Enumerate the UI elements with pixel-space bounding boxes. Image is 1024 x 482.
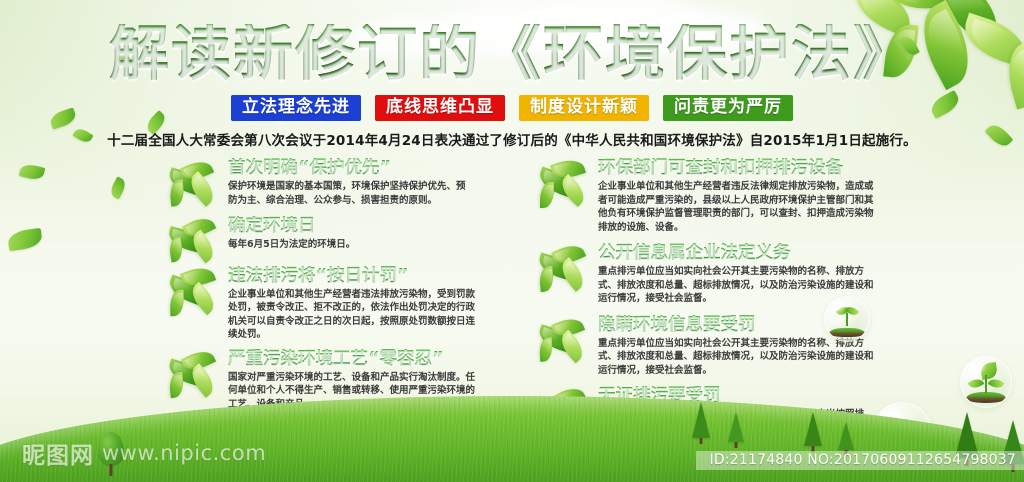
leaf-sprig-icon	[164, 160, 226, 206]
item-body: 每年6月5日为法定的环境日。	[228, 238, 471, 251]
badge-row: 立法理念先进 底线思维凸显 制度设计新颖 问责更为严厉	[0, 95, 1024, 121]
title-wrap: 解读新修订的《环境保护法》	[0, 24, 1024, 84]
poster-title: 解读新修订的《环境保护法》	[109, 24, 915, 84]
list-item: 环保部门可查封和扣押排污设备 企业事业单位和其他生产经营者违反法律规定排放污染物…	[536, 158, 902, 234]
badge-accountability[interactable]: 问责更为严厉	[663, 95, 793, 121]
leaf-sprig-icon	[164, 351, 226, 397]
floating-leaf	[7, 228, 43, 252]
item-body: 保护环境是国家的基本国策，环境保护坚持保护优先、预防为主、综合治理、公众参与、损…	[228, 180, 471, 207]
list-item: 确定环境日 每年6月5日为法定的环境日。	[166, 216, 532, 252]
floating-leaf	[108, 176, 128, 199]
badge-legislation-concept[interactable]: 立法理念先进	[231, 95, 361, 121]
item-heading: 环保部门可查封和扣押排污设备	[598, 158, 902, 178]
item-body: 企业事业单位和其他生产经营者违反法律规定排放污染物，造成或者可能造成严重污染的，…	[598, 180, 881, 234]
item-heading: 违法排污将“按日计罚”	[228, 266, 532, 286]
list-item: 首次明确“保护优先” 保护环境是国家的基本国策，环境保护坚持保护优先、预防为主、…	[166, 158, 532, 207]
leaf-sprig-icon	[534, 160, 596, 206]
leaf-sprig-icon	[164, 268, 226, 314]
leaf-sprig-icon	[534, 245, 596, 291]
item-body: 重点排污单位应当如实向社会公开其主要污染物的名称、排放方式、排放浓度和总量、超标…	[598, 337, 881, 377]
item-heading: 确定环境日	[228, 216, 532, 236]
list-item: 违法排污将“按日计罚” 企业事业单位和其他生产经营者违法排放污染物，受到罚款处罚…	[166, 266, 532, 342]
glass-bubble-sprout-icon	[824, 296, 870, 342]
item-body: 企业事业单位和其他生产经营者违法排放污染物，受到罚款处罚，被责令改正、拒不改正的…	[228, 288, 476, 342]
item-heading: 首次明确“保护优先”	[228, 158, 532, 178]
leaf-sprig-icon	[534, 317, 596, 363]
badge-bottom-line-thinking[interactable]: 底线思维凸显	[375, 95, 505, 121]
badge-system-design[interactable]: 制度设计新颖	[519, 95, 649, 121]
poster-subtitle: 十二届全国人大常委会第八次会议于2014年4月24日表决通过了修订后的《中华人民…	[0, 129, 1024, 149]
glass-bubble-plant-icon	[960, 356, 1012, 408]
poster-canvas: 解读新修订的《环境保护法》 立法理念先进 底线思维凸显 制度设计新颖 问责更为严…	[0, 0, 1024, 482]
leaf-sprig-icon	[164, 218, 226, 264]
item-heading: 公开信息属企业法定义务	[598, 243, 902, 263]
floating-leaf	[19, 162, 46, 181]
item-heading: 严重污染环境工艺“零容忍”	[228, 349, 532, 369]
